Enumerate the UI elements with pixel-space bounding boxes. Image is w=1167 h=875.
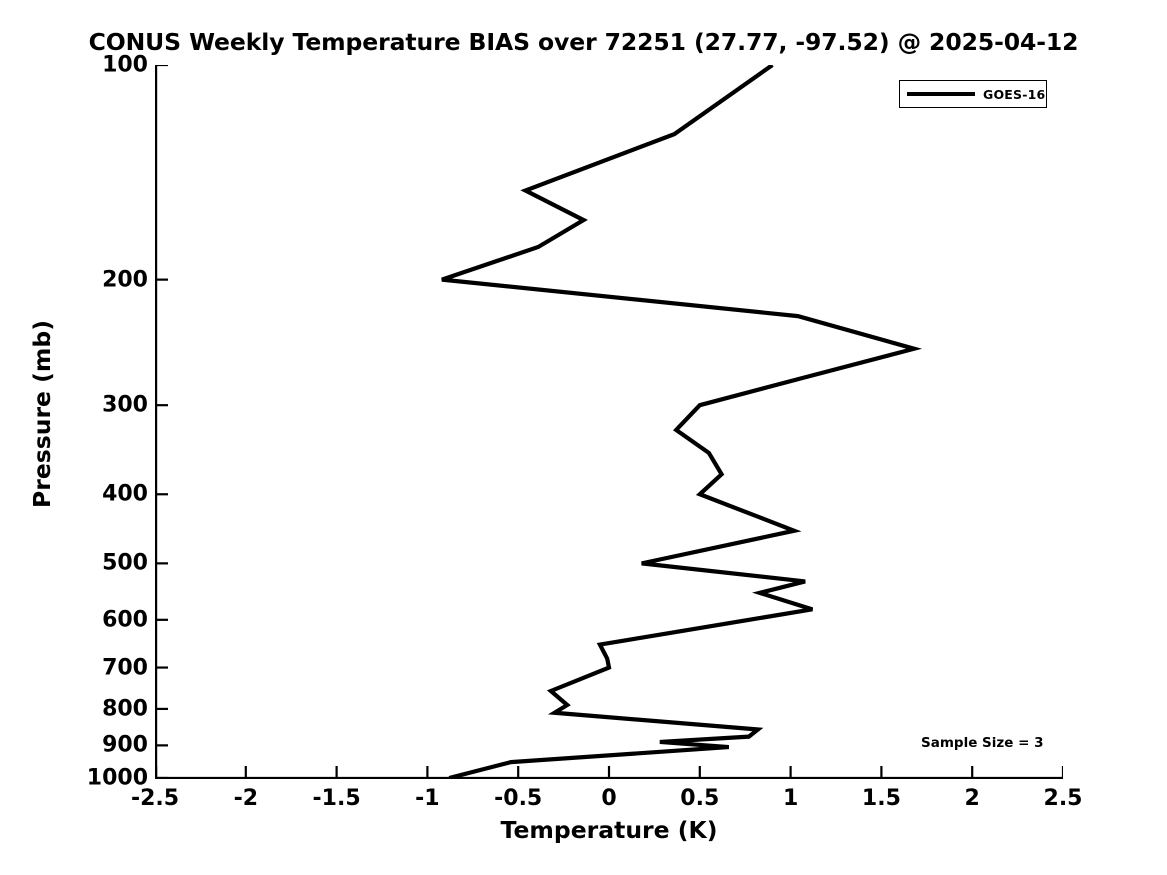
x-tick-label-1: 1 — [783, 786, 798, 811]
legend-label-goes16: GOES-16 — [983, 87, 1045, 102]
x-tick-label-2: 2 — [965, 786, 980, 811]
x-tick-label-1.5: 1.5 — [862, 786, 901, 811]
chart-figure: CONUS Weekly Temperature BIAS over 72251… — [0, 0, 1167, 875]
x-tick-label--1.5: -1.5 — [313, 786, 361, 811]
legend-swatch-goes16 — [907, 92, 975, 96]
y-axis-label: Pressure (mb) — [28, 304, 56, 524]
x-tick-label-0.5: 0.5 — [680, 786, 719, 811]
x-tick-label--2: -2 — [234, 786, 258, 811]
legend-box: GOES-16 — [899, 80, 1047, 108]
x-tick-label--1: -1 — [415, 786, 439, 811]
sample-size-annotation: Sample Size = 3 — [921, 735, 1044, 751]
x-tick-label-2.5: 2.5 — [1044, 786, 1083, 811]
x-axis-label: Temperature (K) — [155, 816, 1063, 844]
x-tick-label-0: 0 — [601, 786, 616, 811]
x-tick-label--0.5: -0.5 — [494, 786, 542, 811]
x-tick-label--2.5: -2.5 — [131, 786, 179, 811]
